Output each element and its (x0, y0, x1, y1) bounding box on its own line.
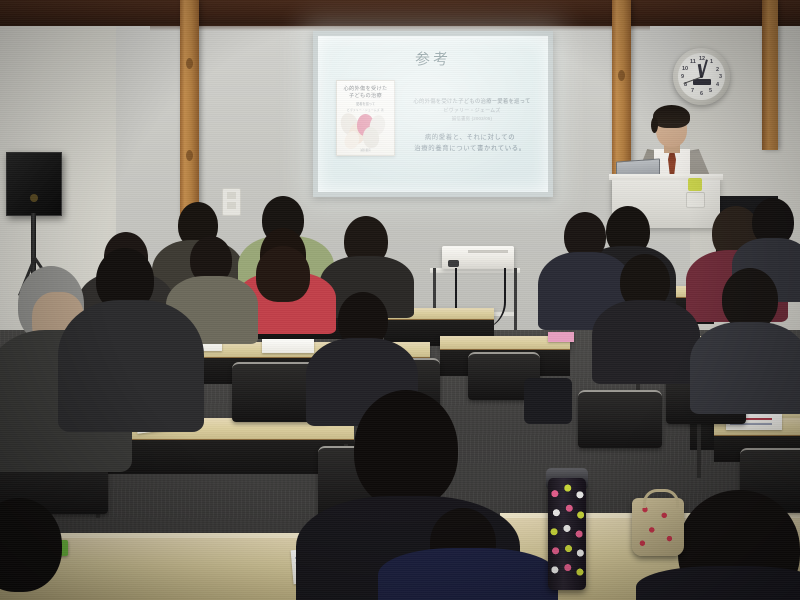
clock-numeral: 7 (691, 88, 694, 94)
clock-numeral: 11 (690, 59, 696, 65)
slide-reference-line-1: 心的外傷を受けた子どもの治療ー愛着を巡って (402, 98, 542, 107)
desk-leg (697, 424, 701, 478)
book-cover-authors: ビヴァリー・ジェームズ 著 (341, 108, 390, 112)
slide-body-line-1: 病的愛着と、それに対しての (398, 132, 542, 143)
slide-body-line-2: 治療的養育について書かれている。 (398, 143, 542, 154)
clock-numeral: 1 (710, 59, 713, 65)
presenter-glasses-icon (658, 123, 685, 129)
dark-bag-on-chair (524, 378, 572, 424)
podium-top-surface (609, 174, 723, 180)
slide-reference-line-3: 誠信書房 (2003/05) (402, 115, 542, 124)
wall-clock: 12 1 2 3 4 5 6 7 8 9 10 11 (673, 48, 730, 105)
book-cover-title-line-1: 心的外傷を受けた (341, 86, 390, 93)
thermos-bottle (548, 478, 586, 590)
clock-numeral: 5 (709, 88, 712, 94)
floral-tote-bag (632, 498, 684, 556)
clock-numeral: 6 (700, 91, 703, 97)
projector-stand-leg (514, 268, 517, 330)
clock-numeral: 4 (716, 82, 719, 88)
podium-green-marker (688, 178, 702, 191)
slide-book-cover-image: 心的外傷を受けた 子どもの治療 愛着を巡って ビヴァリー・ジェームズ 著 誠信書… (336, 80, 395, 156)
pa-speaker (6, 152, 62, 216)
beam-shadow (150, 24, 650, 31)
wood-post-left (180, 0, 199, 236)
speaker-cone-icon (30, 194, 38, 202)
clock-numeral: 3 (719, 74, 722, 80)
slide-title: 参考 (318, 48, 548, 69)
clock-center-pin (700, 75, 704, 79)
clock-numeral: 9 (681, 74, 684, 80)
book-cover-title-line-2: 子どもの治療 (341, 93, 390, 100)
clock-numeral: 10 (682, 66, 688, 72)
wood-post-far-right (762, 0, 778, 150)
slide-body-block: 病的愛着と、それに対しての 治療的養育について書かれている。 (398, 132, 542, 154)
projector (442, 246, 514, 269)
lecture-room-photo: 参考 心的外傷を受けた 子どもの治療 愛着を巡って ビヴァリー・ジェームズ 著 … (0, 0, 800, 600)
podium-placard (686, 192, 705, 208)
light-switch[interactable] (222, 188, 241, 216)
chair (578, 390, 662, 448)
slide-reference-line-2: ビヴァリー・ジェームズ (402, 107, 542, 116)
book-cover-subtitle: 愛着を巡って (341, 101, 390, 106)
slide-reference-block: 心的外傷を受けた子どもの治療ー愛着を巡って ビヴァリー・ジェームズ 誠信書房 (… (402, 98, 542, 124)
projection-screen: 参考 心的外傷を受けた 子どもの治療 愛着を巡って ビヴァリー・ジェームズ 著 … (313, 31, 553, 197)
book-cover-publisher: 誠信書房 (341, 148, 390, 152)
clock-numeral: 12 (699, 56, 705, 62)
clock-face: 12 1 2 3 4 5 6 7 8 9 10 11 (678, 53, 725, 100)
clock-numeral: 2 (716, 67, 719, 73)
ceiling-beam (0, 0, 800, 26)
handout-paper (262, 339, 314, 353)
pink-item-on-desk (548, 332, 574, 342)
slide-surface: 参考 心的外傷を受けた 子どもの治療 愛着を巡って ビヴァリー・ジェームズ 著 … (318, 36, 548, 192)
